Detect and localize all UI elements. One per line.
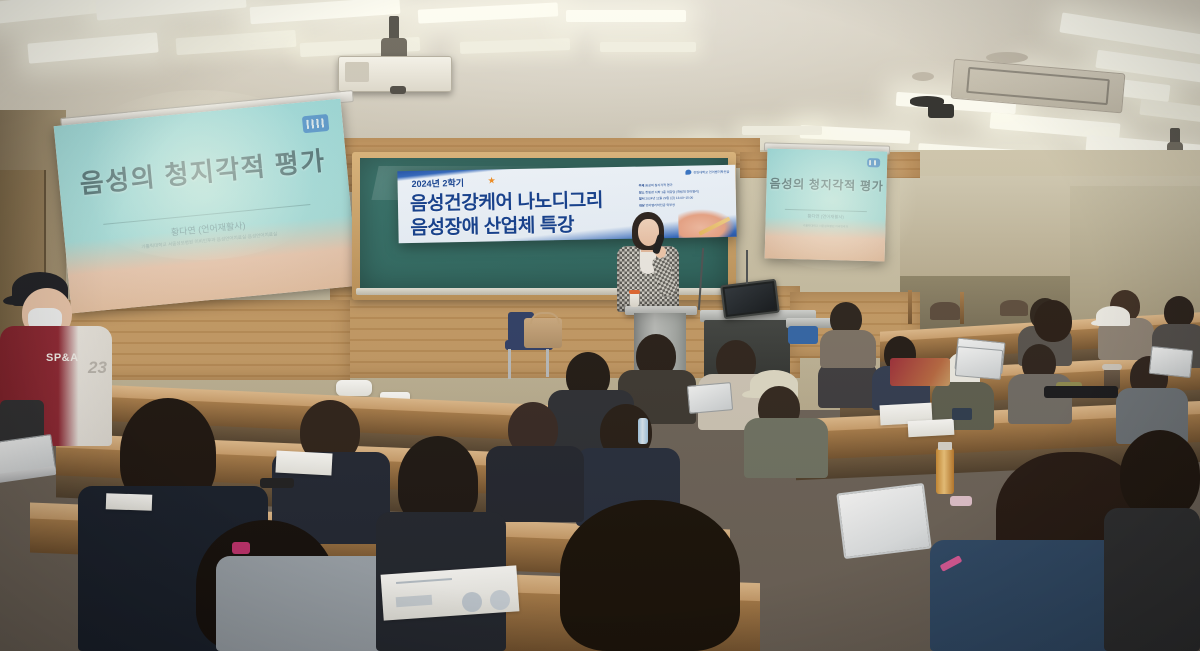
foreground-sweater: [216, 556, 396, 651]
empty-chair-backrest: [1000, 300, 1028, 316]
varsity-jacket-text: SP&A: [46, 352, 79, 364]
org-mark-icon: [685, 170, 691, 175]
banner-info-value: 언어병리학전공 학부생: [646, 202, 675, 207]
screen-glare: [765, 148, 888, 261]
event-banner: 2024년 2학기 ★ 음성건강케어 나노디그리 음성장애 산업체 특강 한림대…: [397, 165, 736, 243]
eyeglass-case: [260, 478, 294, 488]
audience-torso: [486, 446, 584, 522]
blue-equipment-case: [788, 326, 818, 344]
banner-info-label: 장소: [639, 190, 645, 194]
banner-info-label: 일시: [639, 197, 645, 201]
banner-info-label: 주제: [639, 184, 645, 188]
foreground-torso: [1104, 508, 1200, 651]
banner-title-line2: 음성장애 산업체 특강: [410, 210, 574, 240]
lectern-monitor: [720, 279, 780, 320]
notebook-page: [275, 451, 332, 476]
audience-torso: [744, 418, 828, 478]
banner-info-value: 한림관 지하 1층 대강당 (하림대 언어병리): [645, 189, 699, 194]
notebook-page: [908, 419, 955, 437]
banner-info-value: 2024년 11월 29일 (금) 13:00~15:00: [645, 196, 693, 201]
water-bottle: [936, 448, 954, 494]
red-backpack: [890, 358, 950, 386]
foreground-head: [560, 500, 740, 651]
screen-glare: [54, 99, 359, 314]
foreground-head: [1034, 300, 1072, 342]
smartphone[interactable]: [950, 496, 972, 506]
ceiling-projector-main: [338, 16, 450, 96]
star-icon: ★: [487, 175, 495, 186]
monitor-screen: [725, 283, 776, 315]
empty-desk-leg: [960, 292, 964, 324]
projection-screen-right: 음성의 청지각적 평가 황다연 (언어재활사) 가톨릭대학교 서울성모병원 이비…: [765, 148, 888, 261]
projector-lens: [390, 86, 406, 94]
pink-highlighter[interactable]: [232, 542, 250, 554]
banner-info-label: 대상: [639, 203, 645, 207]
tablet-device[interactable]: [836, 483, 931, 559]
banner-org-logo: 한림대학교 언어병리학전공: [685, 169, 729, 175]
audience-cap-white: [1096, 306, 1130, 326]
notebook-page: [106, 493, 153, 511]
laptop-screen[interactable]: [1149, 346, 1194, 378]
wall-speaker: [928, 104, 954, 118]
water-bottle: [638, 418, 648, 444]
ceiling-dome-fixture: [912, 72, 934, 81]
lecture-hall-photo: 음성의 청지각적 평가 황다연 (언어재활사) 가톨릭대학교 서울성모병원 이비…: [0, 0, 1200, 651]
dark-jacket-on-desk: [1044, 386, 1118, 398]
handout-chart: [462, 592, 482, 612]
banner-info-value: 음성의 청지각적 평가: [645, 183, 672, 188]
projector-vent: [345, 62, 370, 82]
ceiling-dome-fixture: [986, 52, 1028, 63]
paper-cup: [630, 292, 639, 307]
foreground-head: [1120, 430, 1200, 520]
floor-item: [336, 380, 372, 396]
projection-screen-left: 음성의 청지각적 평가 황다연 (언어재활사) 가톨릭대학교 서울성모병원 이비…: [54, 99, 359, 314]
gooseneck-mic-stand: [746, 250, 748, 284]
empty-chair-backrest: [930, 302, 960, 320]
banner-hand-illustration: [678, 209, 735, 240]
handout-chart: [490, 590, 510, 610]
chair-leg: [546, 349, 549, 377]
laptop-screen[interactable]: [687, 382, 733, 414]
empty-desk-leg: [908, 290, 912, 324]
smartphone[interactable]: [952, 408, 972, 420]
varsity-sleeve-number: 23: [88, 358, 107, 378]
banner-info-row: 대상 언어병리학전공 학부생: [639, 200, 731, 208]
audience-torso: [820, 330, 876, 368]
cup-lid: [629, 290, 640, 294]
chair-leg: [508, 349, 511, 379]
audience-torso: [818, 362, 878, 408]
laptop-screen[interactable]: [955, 346, 1003, 380]
banner-info-block: 주제 음성의 청지각적 평가 장소 한림관 지하 1층 대강당 (하림대 언어병…: [639, 181, 731, 209]
banner-org-name: 한림대학교 언어병리학전공: [693, 170, 729, 175]
bottle-cap: [938, 442, 952, 450]
ceiling-light-panel: [742, 126, 822, 135]
ceiling-light-panel: [566, 10, 686, 22]
handbag-handle: [530, 312, 560, 324]
ceiling-light-panel: [600, 42, 696, 52]
tumbler-lid: [1102, 364, 1122, 370]
